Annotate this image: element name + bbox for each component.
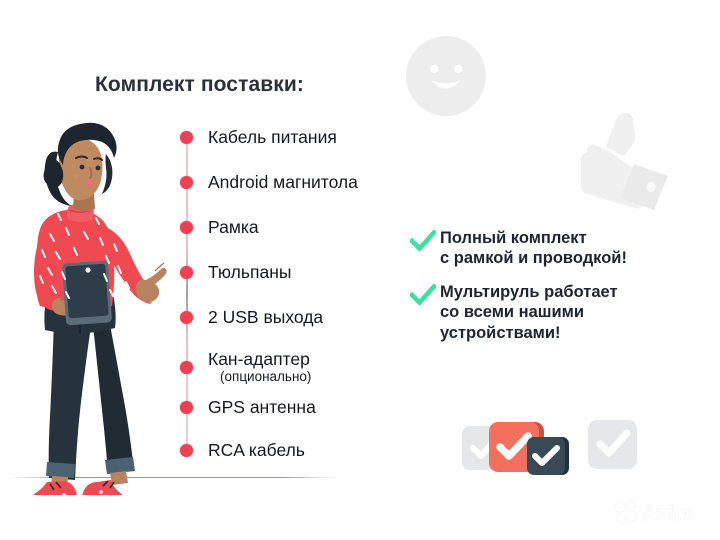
thumbs-up-icon <box>575 108 679 212</box>
smiley-face-icon <box>404 34 488 118</box>
promo-card: Комплект поставки: Кабель питания Androi… <box>0 0 720 540</box>
bullet-dot-icon <box>180 361 193 374</box>
delivery-contents-list: Кабель питания Android магнитола Рамка Т… <box>180 128 430 458</box>
bullet-dot-icon <box>180 131 193 144</box>
list-item-label: 2 USB выхода <box>208 308 323 327</box>
checkbox-tiles-graphic <box>462 418 637 484</box>
list-item: RCA кабель <box>180 441 305 460</box>
avito-logo-icon: Avito <box>612 498 712 526</box>
benefit-item: Полный комплект с рамкой и проводкой! <box>410 228 700 268</box>
bullet-dot-icon <box>180 401 193 414</box>
checkbox-tile-navy <box>527 437 565 475</box>
list-item-label: Кабель питания <box>208 128 337 147</box>
list-item: Кан-адаптер (опционально) <box>180 350 311 385</box>
bullet-dot-icon <box>180 221 193 234</box>
list-item: Android магнитола <box>180 173 358 192</box>
checkbox-tile-grey-right <box>588 420 637 469</box>
benefit-label: Полный комплект с рамкой и проводкой! <box>440 228 627 268</box>
list-item: 2 USB выхода <box>180 308 323 327</box>
list-item: GPS антенна <box>180 398 316 417</box>
list-item-subnote: (опционально) <box>220 370 311 385</box>
green-check-icon <box>410 228 440 257</box>
list-item-label: Кан-адаптер (опционально) <box>208 350 311 385</box>
bullet-dot-icon <box>180 266 193 279</box>
green-check-icon <box>410 282 440 311</box>
person-illustration <box>14 110 179 495</box>
list-item: Кабель питания <box>180 128 337 147</box>
list-item-label: Android магнитола <box>208 173 358 192</box>
benefits-block: Полный комплект с рамкой и проводкой! Му… <box>410 228 700 357</box>
list-item: Тюльпаны <box>180 263 291 282</box>
list-item-label: Тюльпаны <box>208 263 291 282</box>
tablet-device <box>62 260 112 325</box>
benefit-item: Мультируль работает со всеми нашими устр… <box>410 282 700 342</box>
list-item-label: GPS антенна <box>208 398 316 417</box>
page-title: Комплект поставки: <box>95 73 304 97</box>
list-item-label: Рамка <box>208 218 259 237</box>
bullet-dot-icon <box>180 444 193 457</box>
bullet-dot-icon <box>180 311 193 324</box>
pointing-hand <box>136 263 167 302</box>
list-item: Рамка <box>180 218 259 237</box>
list-item-label: RCA кабель <box>208 441 305 460</box>
benefit-label: Мультируль работает со всеми нашими устр… <box>440 282 618 342</box>
bullet-dot-icon <box>180 176 193 189</box>
sneaker-left <box>29 481 77 495</box>
list-item-main: Кан-адаптер <box>208 349 310 369</box>
avito-wordmark: Avito <box>642 502 694 525</box>
